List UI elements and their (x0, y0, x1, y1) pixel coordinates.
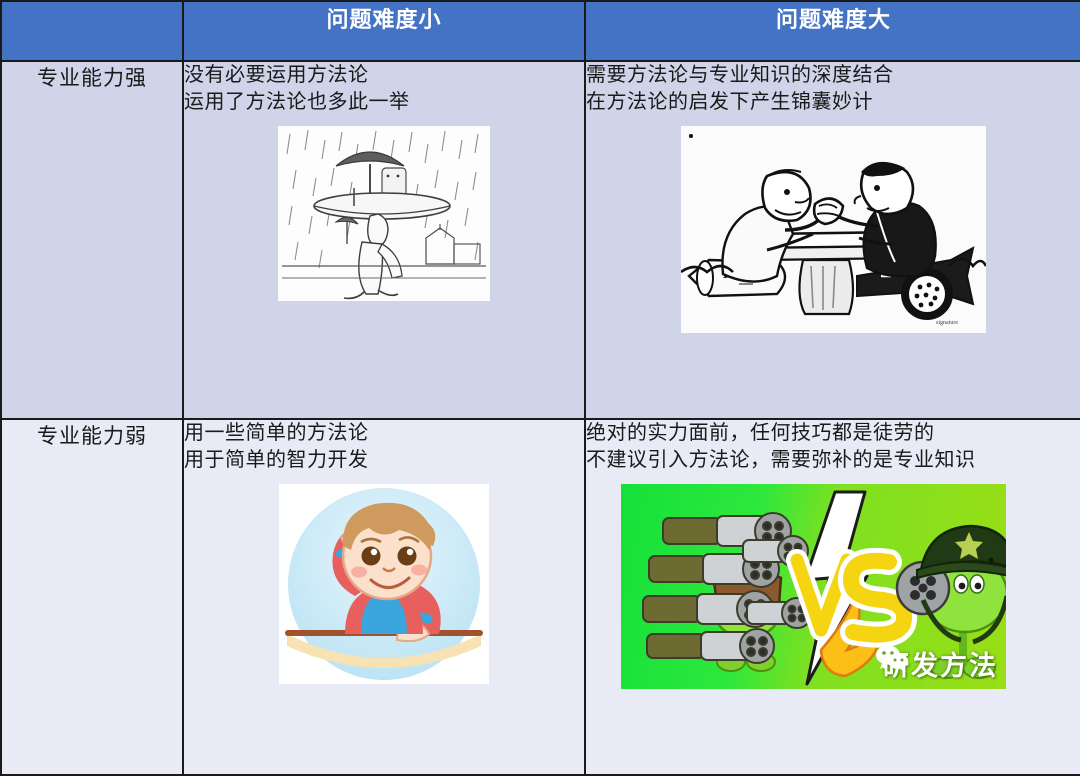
pvz-gatling-pea-versus-helmet-pea-image: 研发方法 (621, 484, 1006, 689)
row-label-strong-ability: 专业能力强 (1, 61, 183, 419)
image-container-strong-easy (184, 126, 584, 301)
header-column-easy: 问题难度小 (183, 1, 585, 61)
image-container-strong-hard: H (586, 126, 1080, 333)
cell-weak-easy: 用一些简单的方法论 用于简单的智力开发 (183, 419, 585, 775)
cell-weak-hard: 绝对的实力面前，任何技巧都是徒劳的 不建议引入方法论，需要弥补的是专业知识 (585, 419, 1080, 775)
cell-strong-hard: 需要方法论与专业知识的深度结合 在方法论的启发下产生锦囊妙计 H (585, 61, 1080, 419)
cell-text-weak-easy: 用一些简单的方法论 用于简单的智力开发 (184, 420, 584, 474)
cell-strong-easy: 没有必要运用方法论 运用了方法论也多此一举 (183, 61, 585, 419)
cell-text-strong-hard: 需要方法论与专业知识的深度结合 在方法论的启发下产生锦囊妙计 (586, 62, 1080, 116)
header-column-hard: 问题难度大 (585, 1, 1080, 61)
sketch-man-in-rain-with-umbrella-table-image (278, 126, 490, 301)
cell-text-strong-easy: 没有必要运用方法论 运用了方法论也多此一举 (184, 62, 584, 116)
svg-text:signature: signature (936, 320, 958, 326)
table-header-row: 问题难度小 问题难度大 (1, 1, 1080, 61)
row-label-weak-ability: 专业能力弱 (1, 419, 183, 775)
cell-text-weak-hard: 绝对的实力面前，任何技巧都是徒劳的 不建议引入方法论，需要弥补的是专业知识 (586, 420, 1016, 474)
cartoon-arm-wrestling-on-missiles-image: H (681, 126, 986, 333)
cartoon-boy-scratching-head-image (279, 484, 489, 684)
header-corner-cell (1, 1, 183, 61)
table-row: 专业能力强 没有必要运用方法论 运用了方法论也多此一举 (1, 61, 1080, 419)
image-container-weak-easy (184, 484, 584, 684)
comparison-matrix-table: 问题难度小 问题难度大 专业能力强 没有必要运用方法论 运用了方法论也多此一举 (0, 0, 1080, 776)
image-container-weak-hard: 研发方法 (586, 484, 1080, 689)
table-row: 专业能力弱 用一些简单的方法论 用于简单的智力开发 (1, 419, 1080, 775)
wechat-watermark: 研发方法 (875, 644, 998, 683)
